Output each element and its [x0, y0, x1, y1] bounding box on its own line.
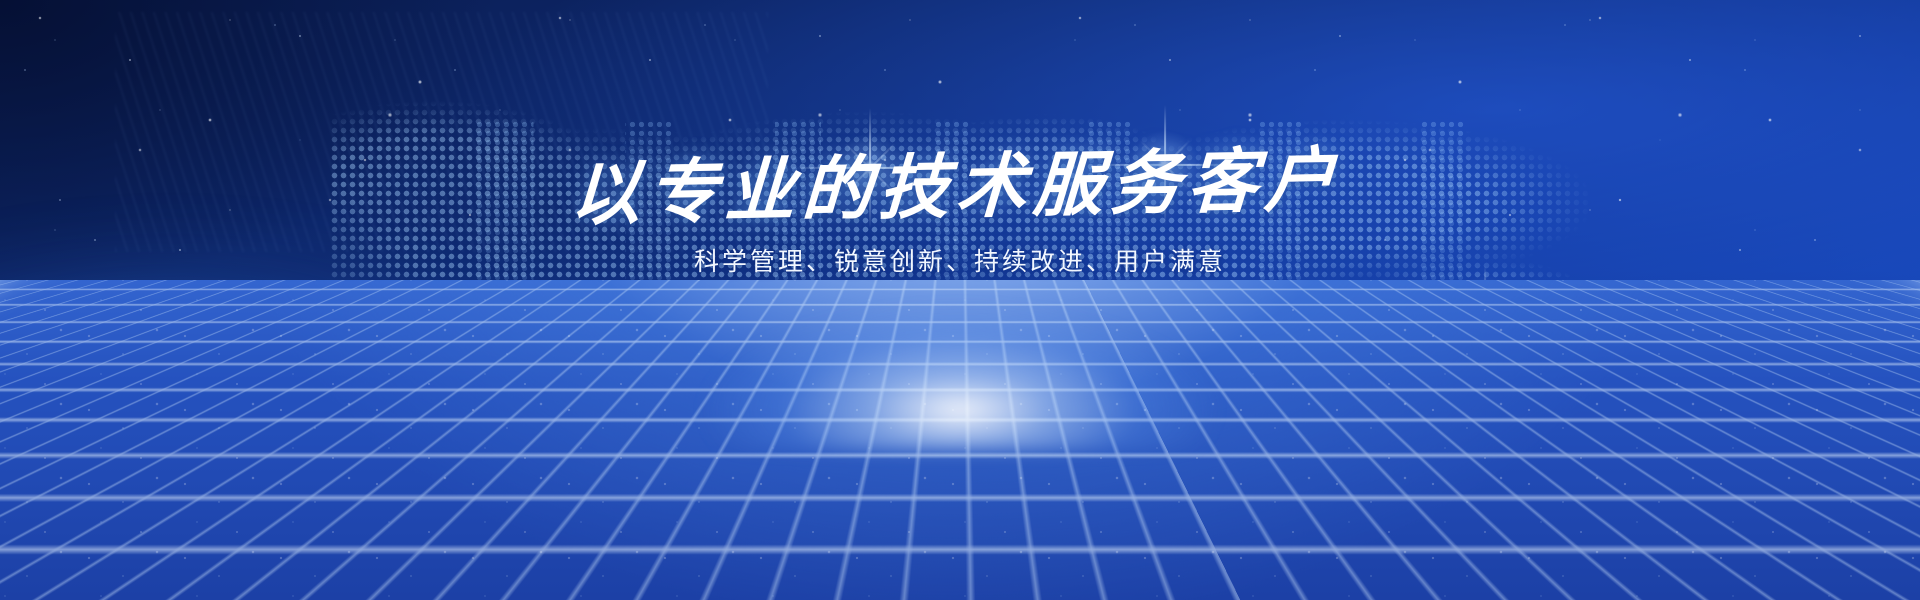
earth-horizon: [0, 280, 1920, 600]
earth-center-glow: [616, 280, 1304, 450]
hero-banner: 以专业的技术服务客户 科学管理、锐意创新、持续改进、用户满意: [0, 0, 1920, 600]
banner-content: 以专业的技术服务客户 科学管理、锐意创新、持续改进、用户满意: [0, 0, 1920, 278]
banner-headline: 以专业的技术服务客户: [0, 0, 1920, 242]
